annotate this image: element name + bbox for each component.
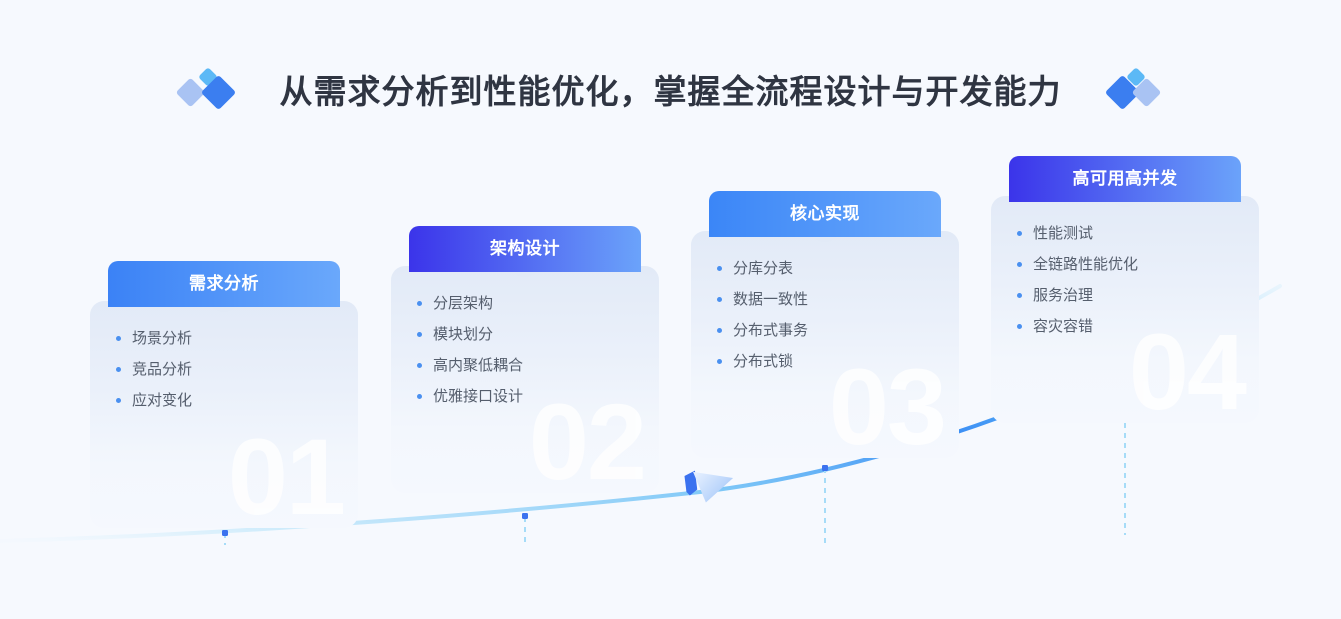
card-step-number: 01 <box>228 427 344 526</box>
bullet-dot-icon <box>1017 324 1022 329</box>
infographic-canvas: 从需求分析到性能优化，掌握全流程设计与开发能力 <box>0 0 1341 619</box>
step-card-1[interactable]: 需求分析 01 场景分析 竞品分析 应对变化 <box>90 261 358 528</box>
list-item-label: 分库分表 <box>733 261 793 276</box>
list-item: 竞品分析 <box>116 362 358 377</box>
card-header-4: 高可用高并发 <box>1009 156 1241 202</box>
diamond-cluster-right-icon <box>1106 67 1164 115</box>
step-card-4[interactable]: 高可用高并发 04 性能测试 全链路性能优化 服务治理 <box>991 156 1259 423</box>
list-item-label: 优雅接口设计 <box>433 389 523 404</box>
curve-node-2 <box>522 513 528 519</box>
list-item: 模块划分 <box>417 327 659 342</box>
list-item-label: 容灾容错 <box>1033 319 1093 334</box>
bullet-dot-icon <box>717 297 722 302</box>
list-item-label: 高内聚低耦合 <box>433 358 523 373</box>
list-item: 分布式事务 <box>717 323 959 338</box>
list-item-label: 应对变化 <box>132 393 192 408</box>
list-item: 优雅接口设计 <box>417 389 659 404</box>
list-item: 高内聚低耦合 <box>417 358 659 373</box>
card-header-label: 架构设计 <box>490 240 560 257</box>
list-item-label: 分层架构 <box>433 296 493 311</box>
card-header-1: 需求分析 <box>108 261 340 307</box>
list-item: 场景分析 <box>116 331 358 346</box>
card-body-2: 02 分层架构 模块划分 高内聚低耦合 优雅接口设计 <box>391 266 659 493</box>
card-item-list-3: 分库分表 数据一致性 分布式事务 分布式锁 <box>691 231 959 399</box>
bullet-dot-icon <box>717 359 722 364</box>
list-item-label: 数据一致性 <box>733 292 808 307</box>
card-item-list-2: 分层架构 模块划分 高内聚低耦合 优雅接口设计 <box>391 266 659 434</box>
curve-node-1 <box>222 530 228 536</box>
card-body-4: 04 性能测试 全链路性能优化 服务治理 容灾容错 <box>991 196 1259 423</box>
arrow-marker <box>684 466 736 505</box>
card-item-list-4: 性能测试 全链路性能优化 服务治理 容灾容错 <box>991 196 1259 364</box>
bullet-dot-icon <box>717 328 722 333</box>
list-item-label: 模块划分 <box>433 327 493 342</box>
list-item-label: 分布式事务 <box>733 323 808 338</box>
diamond-pale-icon <box>175 78 205 108</box>
bullet-dot-icon <box>116 336 121 341</box>
list-item-label: 性能测试 <box>1033 226 1093 241</box>
list-item: 容灾容错 <box>1017 319 1259 334</box>
step-card-2[interactable]: 架构设计 02 分层架构 模块划分 高内聚低耦合 <box>391 226 659 493</box>
list-item-label: 分布式锁 <box>733 354 793 369</box>
list-item: 服务治理 <box>1017 288 1259 303</box>
bullet-dot-icon <box>116 367 121 372</box>
card-header-3: 核心实现 <box>709 191 941 237</box>
list-item: 全链路性能优化 <box>1017 257 1259 272</box>
title-row: 从需求分析到性能优化，掌握全流程设计与开发能力 <box>0 62 1341 120</box>
list-item: 性能测试 <box>1017 226 1259 241</box>
list-item-label: 全链路性能优化 <box>1033 257 1138 272</box>
step-card-3[interactable]: 核心实现 03 分库分表 数据一致性 分布式事务 <box>691 191 959 458</box>
list-item: 分布式锁 <box>717 354 959 369</box>
bullet-dot-icon <box>417 301 422 306</box>
curve-node-3 <box>822 465 828 471</box>
list-item-label: 场景分析 <box>132 331 192 346</box>
card-header-label: 需求分析 <box>189 275 259 292</box>
bullet-dot-icon <box>116 398 121 403</box>
card-header-label: 核心实现 <box>790 205 860 222</box>
bullet-dot-icon <box>417 394 422 399</box>
list-item-label: 服务治理 <box>1033 288 1093 303</box>
card-item-list-1: 场景分析 竞品分析 应对变化 <box>90 301 358 438</box>
diamond-cluster-left-icon <box>178 67 236 115</box>
list-item: 数据一致性 <box>717 292 959 307</box>
card-header-label: 高可用高并发 <box>1073 170 1178 187</box>
card-header-2: 架构设计 <box>409 226 641 272</box>
bullet-dot-icon <box>1017 231 1022 236</box>
page-title: 从需求分析到性能优化，掌握全流程设计与开发能力 <box>280 75 1062 108</box>
card-body-3: 03 分库分表 数据一致性 分布式事务 分布式锁 <box>691 231 959 458</box>
bullet-dot-icon <box>417 332 422 337</box>
card-body-1: 01 场景分析 竞品分析 应对变化 <box>90 301 358 528</box>
list-item-label: 竞品分析 <box>132 362 192 377</box>
bullet-dot-icon <box>717 266 722 271</box>
list-item: 应对变化 <box>116 393 358 408</box>
bullet-dot-icon <box>417 363 422 368</box>
list-item: 分层架构 <box>417 296 659 311</box>
bullet-dot-icon <box>1017 293 1022 298</box>
list-item: 分库分表 <box>717 261 959 276</box>
bullet-dot-icon <box>1017 262 1022 267</box>
